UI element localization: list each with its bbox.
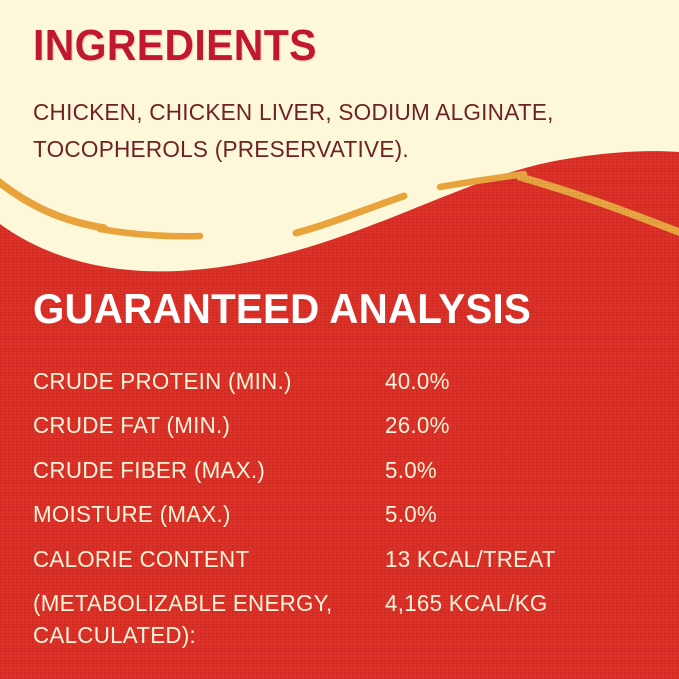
table-row: CALORIE CONTENT 13 KCAL/TREAT <box>33 544 649 576</box>
nutrient-value: 40.0% <box>385 366 636 398</box>
ingredients-section: INGREDIENTS CHICKEN, CHICKEN LIVER, SODI… <box>33 24 645 167</box>
nutrient-label: CRUDE FAT (MIN.) <box>33 410 367 442</box>
nutrient-label: CRUDE PROTEIN (MIN.) <box>33 366 367 398</box>
ingredients-body-text: CHICKEN, CHICKEN LIVER, SODIUM ALGINATE,… <box>33 94 621 167</box>
nutrient-label: CRUDE FIBER (MAX.) <box>33 455 367 487</box>
nutrient-value: 5.0% <box>385 499 636 531</box>
nutrient-value: 5.0% <box>385 455 636 487</box>
table-row: (METABOLIZABLE ENERGY, CALCULATED): 4,16… <box>33 588 649 652</box>
nutrient-label: (METABOLIZABLE ENERGY, CALCULATED): <box>33 588 367 652</box>
table-row: MOISTURE (MAX.) 5.0% <box>33 499 649 531</box>
nutrient-value: 26.0% <box>385 410 636 442</box>
guaranteed-analysis-heading: GUARANTEED ANALYSIS <box>33 288 624 330</box>
ingredients-heading: INGREDIENTS <box>33 24 602 68</box>
guaranteed-analysis-section: GUARANTEED ANALYSIS CRUDE PROTEIN (MIN.)… <box>33 288 649 665</box>
nutrient-label: CALORIE CONTENT <box>33 544 367 576</box>
nutrient-value: 4,165 KCAL/KG <box>385 588 636 620</box>
table-row: CRUDE FAT (MIN.) 26.0% <box>33 410 649 442</box>
pet-food-label-panel: INGREDIENTS CHICKEN, CHICKEN LIVER, SODI… <box>0 0 679 679</box>
nutrient-label: MOISTURE (MAX.) <box>33 499 367 531</box>
table-row: CRUDE FIBER (MAX.) 5.0% <box>33 455 649 487</box>
table-row: CRUDE PROTEIN (MIN.) 40.0% <box>33 366 649 398</box>
nutrient-value: 13 KCAL/TREAT <box>385 544 636 576</box>
guaranteed-analysis-table: CRUDE PROTEIN (MIN.) 40.0% CRUDE FAT (MI… <box>33 366 649 652</box>
